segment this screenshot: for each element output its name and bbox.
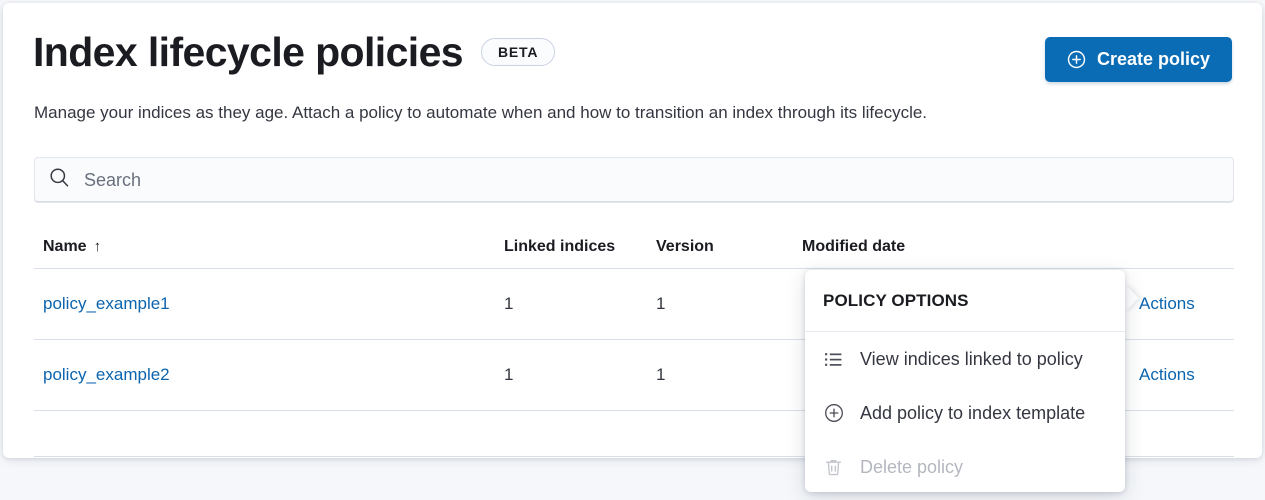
menu-item-add-policy-to-template[interactable]: Add policy to index template — [805, 386, 1125, 440]
sort-ascending-icon: ↑ — [94, 238, 102, 255]
create-policy-label: Create policy — [1097, 49, 1210, 70]
column-header-name[interactable]: Name↑ — [34, 238, 504, 256]
table-header-row: Name↑ Linked indices Version Modified da… — [34, 225, 1234, 269]
search-input[interactable] — [82, 169, 1219, 192]
list-icon — [824, 350, 846, 369]
linked-indices-cell: 1 — [504, 365, 656, 385]
version-cell: 1 — [656, 294, 802, 314]
actions-link[interactable]: Actions — [1139, 365, 1195, 384]
popover-title: POLICY OPTIONS — [805, 270, 1125, 332]
page-root: Index lifecycle policies BETA Create pol… — [0, 0, 1265, 500]
policy-name-cell: policy_example1 — [34, 294, 504, 314]
menu-item-view-indices[interactable]: View indices linked to policy — [805, 332, 1125, 386]
page-title: Index lifecycle policies — [33, 29, 463, 75]
create-policy-button[interactable]: Create policy — [1045, 37, 1232, 82]
policy-link[interactable]: policy_example2 — [43, 365, 170, 384]
page-subtitle: Manage your indices as they age. Attach … — [34, 100, 927, 126]
search-field[interactable] — [34, 157, 1234, 203]
version-cell: 1 — [656, 365, 802, 385]
page-header: Index lifecycle policies BETA Create pol… — [33, 29, 1232, 89]
beta-badge: BETA — [481, 38, 555, 66]
search-icon — [49, 167, 82, 193]
policy-link[interactable]: policy_example1 — [43, 294, 170, 313]
menu-item-label: Delete policy — [860, 457, 963, 478]
actions-cell: Actions — [1120, 365, 1234, 385]
column-label-name: Name — [43, 238, 87, 255]
column-header-modified-date: Modified date — [802, 238, 1120, 256]
menu-item-label: Add policy to index template — [860, 403, 1085, 424]
linked-indices-cell: 1 — [504, 294, 656, 314]
policy-options-popover: POLICY OPTIONS View indices linked to po… — [805, 270, 1125, 492]
plus-circle-icon — [1067, 50, 1086, 69]
column-header-version: Version — [656, 238, 802, 256]
policy-name-cell: policy_example2 — [34, 365, 504, 385]
trash-icon — [824, 458, 846, 477]
plus-circle-icon — [824, 403, 846, 423]
menu-item-label: View indices linked to policy — [860, 349, 1083, 370]
actions-link[interactable]: Actions — [1139, 294, 1195, 313]
column-header-linked-indices: Linked indices — [504, 238, 656, 256]
menu-item-delete-policy: Delete policy — [805, 440, 1125, 494]
